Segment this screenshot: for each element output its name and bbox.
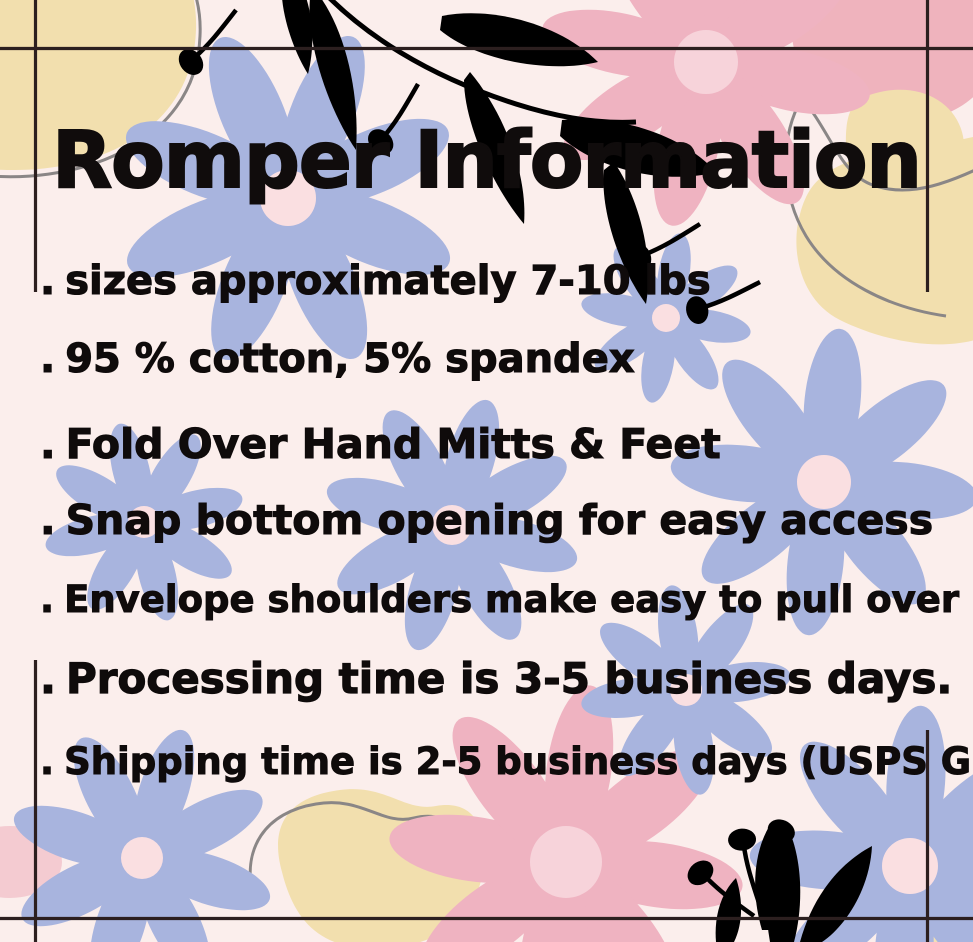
list-item: . Fold Over Hand Mitts & Feet	[40, 420, 721, 468]
poster-canvas: Romper Information . sizes approximately…	[0, 0, 973, 942]
bullet-marker: .	[40, 420, 56, 468]
list-item-text: sizes approximately 7-10 lbs	[65, 258, 710, 304]
page-title: Romper Information	[0, 122, 973, 200]
list-item: . 95 % cotton, 5% spandex	[40, 336, 635, 382]
bullet-marker: .	[40, 654, 56, 703]
bullet-marker: .	[40, 578, 54, 621]
list-item: . Envelope shoulders make easy to pull o…	[40, 578, 973, 621]
poster-content: Romper Information . sizes approximately…	[0, 0, 973, 942]
list-item-text: 95 % cotton, 5% spandex	[65, 336, 634, 382]
list-item: . Snap bottom opening for easy access	[40, 496, 933, 544]
list-item-text: Envelope shoulders make easy to pull ove…	[64, 578, 973, 621]
list-item-text: Processing time is 3-5 business days.	[66, 654, 952, 703]
bullet-marker: .	[40, 336, 55, 382]
list-item-text: Fold Over Hand Mitts & Feet	[66, 420, 721, 468]
list-item: . Processing time is 3-5 business days.	[40, 654, 952, 703]
bullet-marker: .	[40, 258, 55, 304]
bullet-marker: .	[40, 496, 56, 544]
list-item: . Shipping time is 2-5 business days (US…	[40, 740, 973, 783]
list-item: . sizes approximately 7-10 lbs	[40, 258, 711, 304]
bullet-marker: .	[40, 740, 54, 783]
list-item-text: Snap bottom opening for easy access	[66, 496, 934, 544]
list-item-text: Shipping time is 2-5 business days (USPS…	[64, 740, 973, 783]
